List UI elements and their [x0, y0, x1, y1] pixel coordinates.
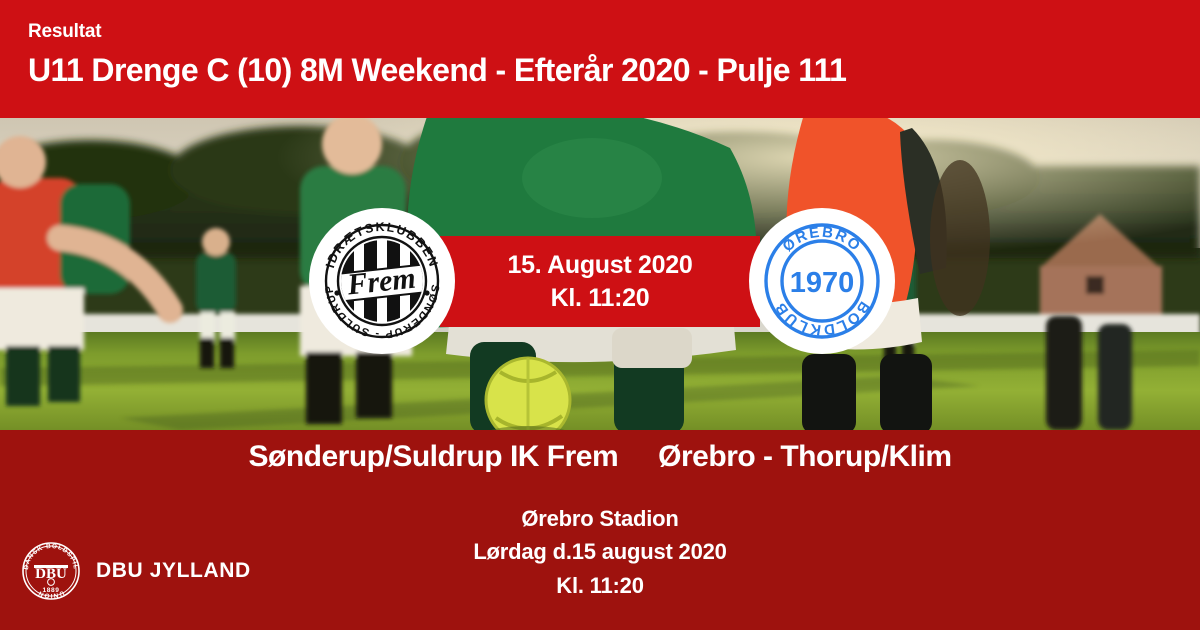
header-kicker: Resultat	[28, 22, 1200, 41]
away-crest-ring-top: ØREBRO	[779, 224, 864, 256]
away-team-name: Ørebro - Thorup/Klim	[658, 440, 951, 474]
svg-text:ØREBRO: ØREBRO	[779, 224, 864, 256]
away-crest-center-text: 1970	[790, 267, 855, 299]
dbu-emblem-icon: DANSK BOLDSPIL UNION DBU 1889	[20, 540, 82, 602]
away-club-crest: ØREBRO BOLDKLUB 1970	[749, 208, 895, 354]
dbu-org-name: DBU JYLLAND	[96, 559, 251, 583]
poster-header: Resultat U11 Drenge C (10) 8M Weekend - …	[0, 0, 1200, 118]
dbu-jylland-logo: DANSK BOLDSPIL UNION DBU 1889 DBU JYLLAN…	[20, 540, 251, 602]
dbu-year: 1889	[42, 587, 59, 594]
team-names-row: Sønderup/Suldrup IK Frem Ørebro - Thorup…	[0, 440, 1200, 474]
match-date-banner: 15. August 2020 Kl. 11:20	[440, 236, 760, 327]
match-time: Kl. 11:20	[551, 282, 650, 315]
page-title: U11 Drenge C (10) 8M Weekend - Efterår 2…	[28, 54, 1200, 88]
venue-stadium: Ørebro Stadion	[0, 502, 1200, 535]
away-crest-ring-bottom: BOLDKLUB	[771, 298, 873, 338]
home-team-name: Sønderup/Suldrup IK Frem	[248, 440, 618, 474]
match-date: 15. August 2020	[508, 249, 693, 282]
home-club-crest: IDRÆTSKLUBBEN SØNDERUP - SULDRUP Frem	[309, 208, 455, 354]
svg-text:BOLDKLUB: BOLDKLUB	[771, 298, 873, 338]
dbu-monogram: DBU	[35, 566, 67, 582]
match-result-poster: Resultat U11 Drenge C (10) 8M Weekend - …	[0, 0, 1200, 630]
